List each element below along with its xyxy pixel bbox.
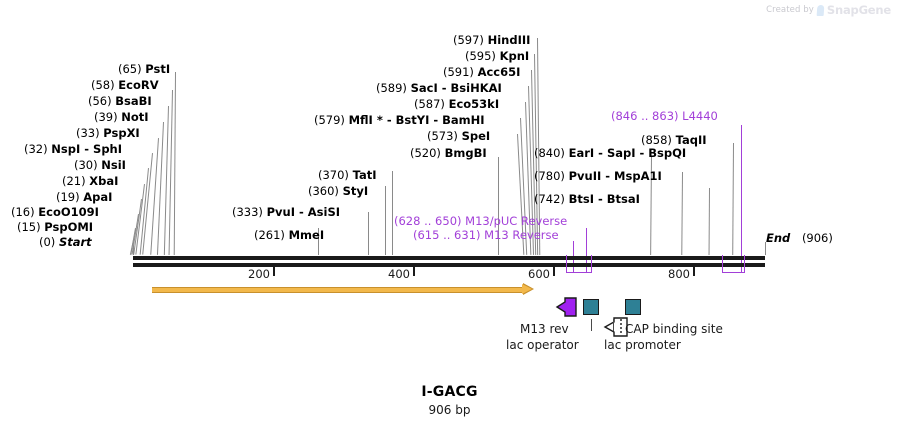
enzyme-label[interactable]: (58) EcoRV [91,80,159,92]
enzyme-position: (742) [534,192,565,206]
enzyme-name: SapI [607,146,636,160]
construct-title: I-GACG [0,384,899,400]
orf-arrow[interactable] [152,283,534,295]
start-label[interactable]: (0) Start [39,237,92,249]
leader-line [385,186,386,255]
ruler-tick-label: 800 [668,267,690,281]
enzyme-name: KpnI [500,49,530,63]
enzyme-label[interactable]: (589) SacI - BsiHKAI [376,83,502,95]
construct-length: 906 bp [0,403,899,417]
leader-line-start [133,246,134,255]
enzyme-name: BtsI [569,192,594,206]
enzyme-label[interactable]: (333) PvuI - AsiSI [232,207,340,219]
leader-line [681,172,683,255]
snapgene-logo-icon [817,5,825,16]
feature-caption-lac-promoter[interactable]: lac promoter [604,338,681,352]
enzyme-name: MspA1I [614,169,662,183]
enzyme-position: (780) [534,169,565,183]
left-arrow-glyph [555,297,577,317]
enzyme-position: (261) [254,228,285,242]
enzyme-name: BspQI [648,146,686,160]
enzyme-position: (39) [94,110,118,124]
leader-line [174,72,176,255]
primer-range: (615 .. 631) [413,228,481,242]
enzyme-name: NotI [121,110,148,124]
start-position: (0) [39,235,55,249]
ruler-tick-label: 200 [248,267,270,281]
enzyme-name: TaqII [676,133,707,147]
enzyme-position: (573) [427,129,458,143]
enzyme-position: (589) [376,81,407,95]
ruler-tick [413,267,415,276]
enzyme-name: PvuII [569,169,602,183]
ruler-tick [553,267,555,276]
enzyme-position: (56) [88,94,112,108]
enzyme-label[interactable]: (595) KpnI [465,51,529,63]
end-position: (906) [802,231,833,245]
snapgene-linear-map: Created by SnapGene (65) PstI (58 [0,0,899,427]
enzyme-label[interactable]: (587) Eco53kI [414,99,499,111]
enzyme-position: (19) [56,190,80,204]
enzyme-label[interactable]: (360) StyI [308,186,368,198]
enzyme-position: (58) [91,78,115,92]
start-name: Start [59,235,92,249]
enzyme-label[interactable]: (370) TatI [318,170,377,182]
feature-glyph-cap-binding-site[interactable] [625,299,641,315]
enzyme-name: PspOMI [44,220,93,234]
ruler-tick [273,267,275,276]
ruler-tick-label: 400 [388,267,410,281]
enzyme-name: BamHI [442,113,484,127]
primer-label[interactable]: (846 .. 863) L4440 [611,111,718,123]
enzyme-position: (579) [314,113,345,127]
enzyme-position: (597) [453,33,484,47]
enzyme-name: XbaI [89,174,118,188]
end-name: End [766,231,790,245]
enzyme-name: BsaBI [115,94,151,108]
enzyme-name: EcoRV [118,78,158,92]
enzyme-name: AsiSI [308,205,340,219]
enzyme-name: SpeI [462,129,491,143]
enzyme-label[interactable]: (261) MmeI [254,230,324,242]
enzyme-label[interactable]: (840) EarI - SapI - BspQI [534,148,686,160]
enzyme-name: BsiHKAI [451,81,502,95]
enzyme-name: NsiI [101,158,126,172]
enzyme-position: (587) [414,97,445,111]
enzyme-label[interactable]: (33) PspXI [76,128,140,140]
enzyme-position: (520) [410,146,441,160]
leader-line [368,212,369,255]
primer-label[interactable]: (615 .. 631) M13 Reverse [413,230,559,242]
leader-line [732,143,734,255]
enzyme-name: BmgBI [445,146,487,160]
feature-glyph-m13-rev[interactable] [555,297,899,317]
leader-line [392,171,393,255]
enzyme-label[interactable]: (858) TaqII [641,135,707,147]
enzyme-position: (21) [62,174,86,188]
enzyme-name: Eco53kI [449,97,500,111]
enzyme-name: MmeI [289,228,325,242]
feature-caption-cap-binding-site[interactable]: CAP binding site [625,322,723,336]
watermark-brand: SnapGene [827,3,891,17]
primer-name: M13/pUC Reverse [465,214,567,228]
enzyme-position: (30) [74,158,98,172]
feature-stem [591,319,592,331]
enzyme-position: (333) [232,205,263,219]
primer-name: L4440 [682,109,718,123]
enzyme-name: MflI * [349,113,383,127]
orf-arrow-head [522,284,532,294]
enzyme-position: (360) [308,184,339,198]
enzyme-position: (15) [17,220,41,234]
primer-name: M13 Reverse [484,228,558,242]
enzyme-name: SacI [411,81,438,95]
enzyme-label[interactable]: (742) BtsI - BtsaI [534,194,640,206]
primer-bracket-m13-reverse [566,255,592,273]
enzyme-label[interactable]: (65) PstI [118,64,170,76]
enzyme-name: Acc65I [478,65,521,79]
end-label[interactable]: End (906) [766,231,833,245]
enzyme-label[interactable]: (591) Acc65I [443,67,520,79]
enzyme-label[interactable]: (56) BsaBI [88,96,152,108]
enzyme-label[interactable]: (573) SpeI [427,131,490,143]
leader-line [169,90,173,255]
enzyme-label[interactable]: (30) NsiI [74,160,126,172]
enzyme-name: BtsaI [607,192,640,206]
feature-glyph-lac-operator[interactable] [583,299,599,315]
enzyme-name: EcoO109I [38,205,99,219]
primer-range: (628 .. 650) [394,214,462,228]
ruler-tick [693,267,695,276]
enzyme-position: (595) [465,49,496,63]
enzyme-label[interactable]: (16) EcoO109I [11,207,99,219]
sequence-backbone-upper [133,256,765,260]
feature-caption-lac-operator[interactable]: lac operator [506,338,579,352]
enzyme-position: (32) [24,142,48,156]
enzyme-name: HindIII [488,33,531,47]
leader-line-primer [741,125,742,273]
enzyme-name: TatI [353,168,377,182]
ruler-tick-label: 600 [528,267,550,281]
enzyme-name: StyI [343,184,369,198]
primer-bracket-l4440 [722,255,745,273]
enzyme-label[interactable]: (780) PvuII - MspA1I [534,171,662,183]
watermark-prefix: Created by [766,5,814,15]
enzyme-name: PstI [145,62,170,76]
enzyme-label[interactable]: (39) NotI [94,112,149,124]
enzyme-label[interactable]: (597) HindIII [453,35,530,47]
enzyme-position: (16) [11,205,35,219]
leader-line [709,188,710,255]
enzyme-label[interactable]: (579) MflI * - BstYI - BamHI [314,115,485,127]
enzyme-label[interactable]: (19) ApaI [56,192,112,204]
enzyme-name: ApaI [83,190,112,204]
enzyme-label[interactable]: (21) XbaI [62,176,118,188]
enzyme-name: PvuI [267,205,295,219]
enzyme-label[interactable]: (32) NspI - SphI [24,144,122,156]
enzyme-name: EarI [569,146,595,160]
enzyme-position: (591) [443,65,474,79]
enzyme-position: (33) [76,126,100,140]
feature-stem [613,319,614,331]
primer-range: (846 .. 863) [611,109,679,123]
enzyme-position: (840) [534,146,565,160]
enzyme-name: PspXI [103,126,139,140]
enzyme-name: SphI [93,142,122,156]
enzyme-label[interactable]: (520) BmgBI [410,148,487,160]
enzyme-name: NspI [51,142,80,156]
enzyme-name: BstYI [396,113,430,127]
enzyme-label[interactable]: (15) PspOMI [17,222,93,234]
enzyme-position: (65) [118,62,142,76]
orf-arrow-body [152,287,523,293]
snapgene-watermark: Created by SnapGene [766,3,891,17]
enzyme-position: (370) [318,168,349,182]
enzyme-position: (858) [641,133,672,147]
feature-caption-m13-rev[interactable]: M13 rev [520,322,569,336]
primer-label[interactable]: (628 .. 650) M13/pUC Reverse [394,216,567,228]
